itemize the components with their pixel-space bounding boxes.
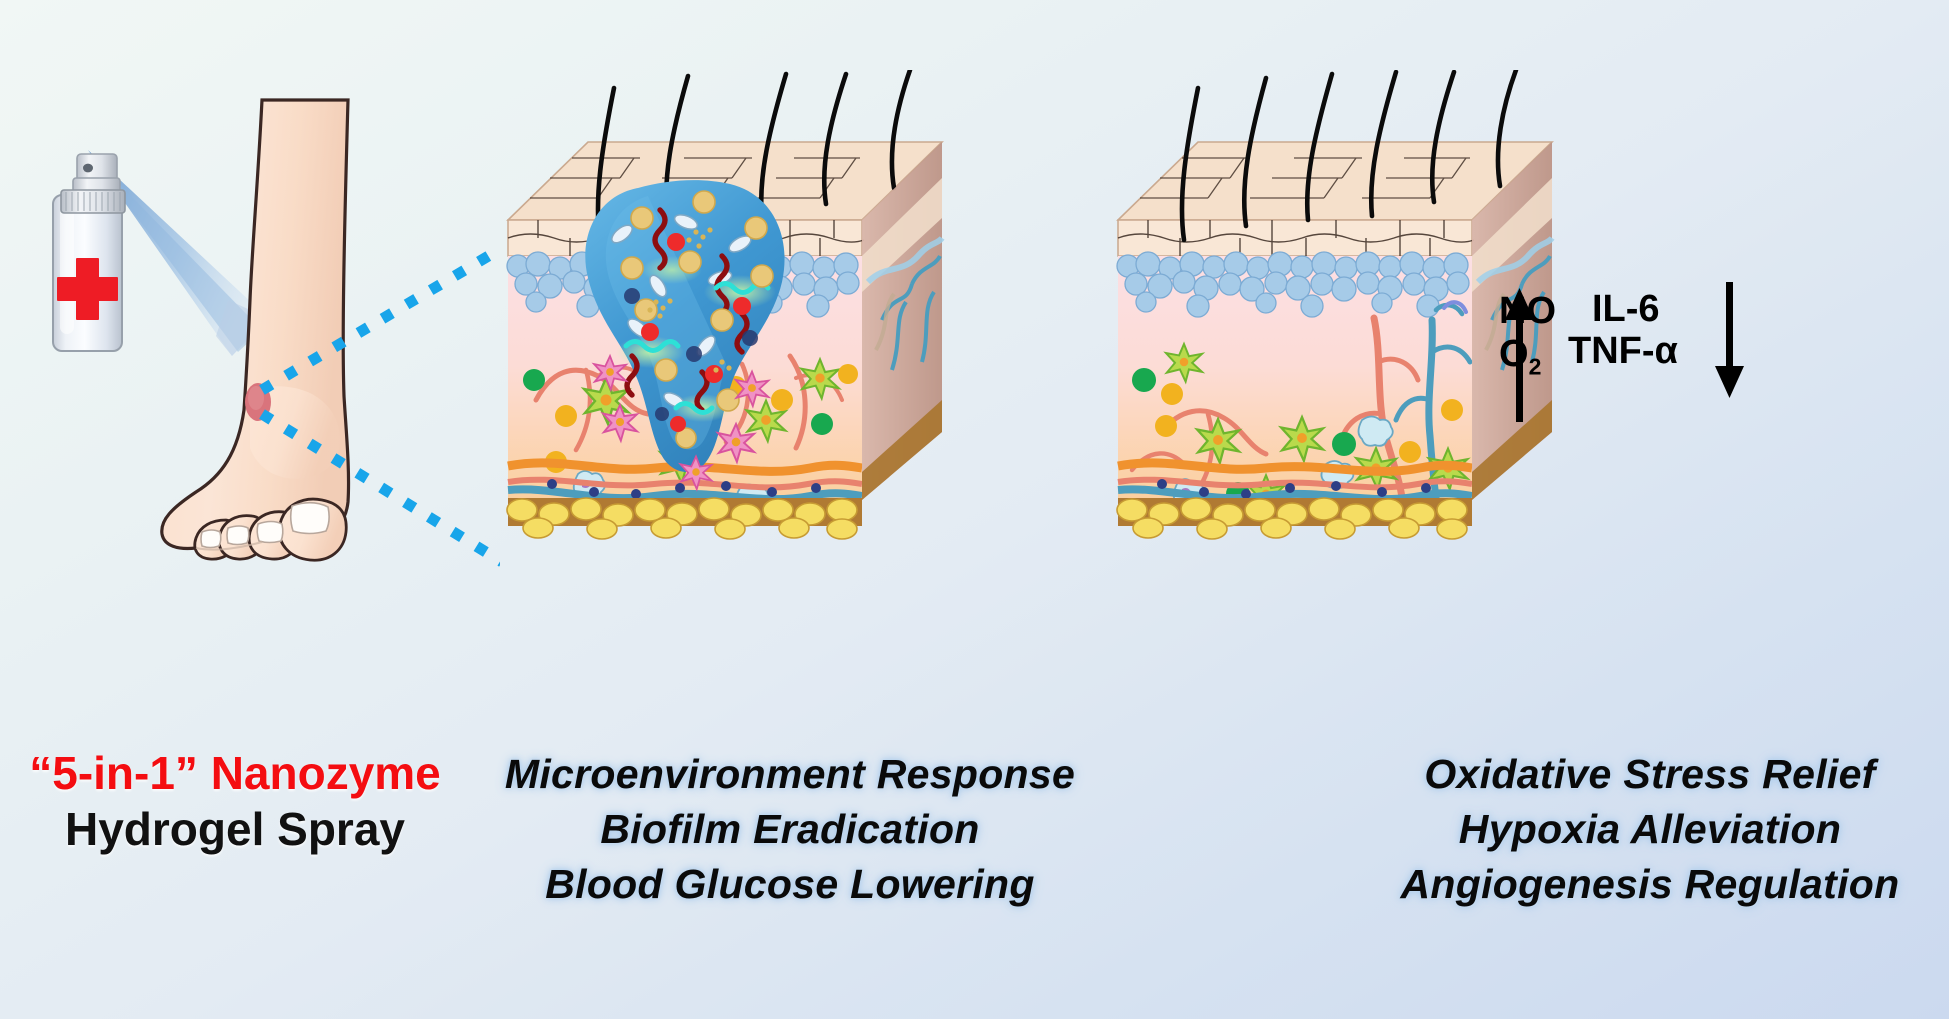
caption-oxidative-stress-relief: Oxidative Stress Relief <box>1350 752 1949 798</box>
left-panel-caption: “5-in-1” Nanozyme Hydrogel Spray <box>0 748 470 855</box>
marker-label-il6: IL-6 <box>1592 288 1660 331</box>
right-panel-caption: Oxidative Stress Relief Hypoxia Alleviat… <box>1350 752 1949 917</box>
marker-label-o2: O2 <box>1499 333 1541 381</box>
adipocyte-layer <box>507 498 857 539</box>
spray-application-panel <box>0 0 500 740</box>
spray-application-illustration <box>0 0 500 740</box>
caption-microenvironment-response: Microenvironment Response <box>480 752 1100 798</box>
skin-block-middle <box>490 70 970 540</box>
down-arrow-icon <box>1710 282 1750 402</box>
foot-illustration <box>162 100 349 560</box>
spray-bottle <box>53 154 125 351</box>
caption-nanozyme: “5-in-1” Nanozyme <box>0 748 470 800</box>
middle-panel-caption: Microenvironment Response Biofilm Eradic… <box>480 752 1100 917</box>
adipocyte-layer <box>1117 498 1467 539</box>
marker-label-tnf: TNF-α <box>1568 330 1678 373</box>
caption-hydrogel-spray: Hydrogel Spray <box>0 804 470 856</box>
caption-blood-glucose-lowering: Blood Glucose Lowering <box>480 862 1100 908</box>
caption-hypoxia-alleviation: Hypoxia Alleviation <box>1350 807 1949 853</box>
caption-biofilm-eradication: Biofilm Eradication <box>480 807 1100 853</box>
caption-angiogenesis-regulation: Angiogenesis Regulation <box>1350 862 1949 908</box>
marker-label-no: NO <box>1499 290 1556 333</box>
spray-nozzle-icon <box>83 164 93 173</box>
microenvironment-response-panel <box>490 70 970 540</box>
graphical-abstract: NO O2 IL-6 TNF-α “5-in-1” Nanozyme Hydro… <box>0 0 1949 1019</box>
